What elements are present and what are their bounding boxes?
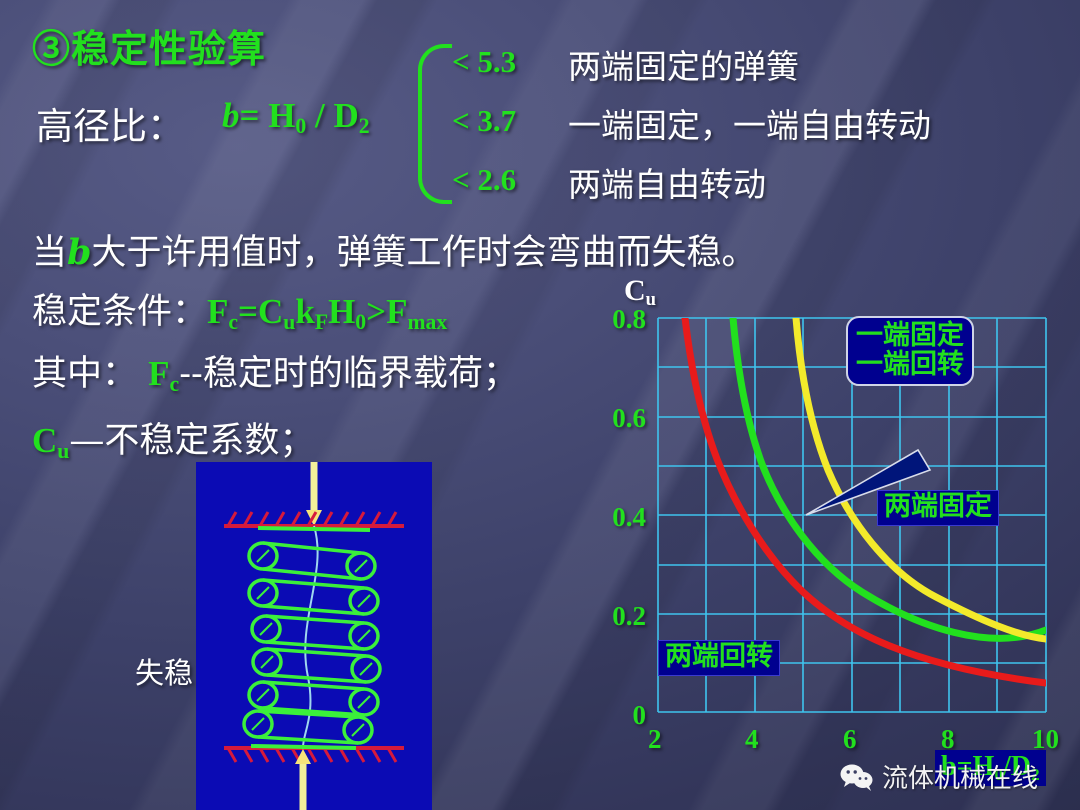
ratio-sub-2: 2 [359, 114, 370, 138]
figure-caption-instability: 失稳 [135, 650, 193, 692]
cu-vs-b-chart: Cu 0.8 0.6 0.4 0.2 0 2 4 6 8 10 [600, 272, 1070, 772]
page-title: ③稳定性验算 [32, 18, 266, 73]
wechat-icon [840, 763, 874, 791]
p4-desc: —不稳定系数； [69, 421, 314, 461]
ratio-slash: / D [306, 96, 359, 135]
paragraph-instability: 当b大于许用值时，弹簧工作时会弯曲而失稳。 [32, 224, 757, 275]
annotation-box-liangduan-huizhuan: 两端回转 [658, 640, 780, 676]
paragraph-cu-definition: Cu—不稳定系数； [32, 412, 314, 464]
p1-lead: 当 [32, 233, 67, 273]
callout-line-2: 一端回转 [856, 350, 964, 379]
chart-plot-svg [600, 272, 1070, 772]
spring-svg [196, 462, 432, 810]
p1-tail: 大于许用值时，弹簧工作时会弯曲而失稳。 [92, 233, 757, 273]
ratio-label: 高径比： [36, 96, 184, 150]
p1-var-b: b [67, 232, 91, 273]
brace-bracket [418, 44, 452, 204]
p2-label: 稳定条件： [32, 292, 207, 332]
threshold-value-3: < 2.6 [452, 162, 516, 198]
paragraph-fc-definition: 其中： Fc--稳定时的临界载荷； [32, 345, 518, 397]
threshold-condition-2: 一端固定，一端自由转动 [568, 99, 931, 147]
bottom-support-hatching [224, 748, 404, 762]
ratio-var-b: b [222, 96, 240, 135]
ratio-eq: = H [240, 96, 296, 135]
ratio-formula: b= H0 / D2 [222, 96, 370, 139]
threshold-value-1: < 5.3 [452, 44, 516, 80]
spring-bottom-plate [251, 746, 356, 748]
symbol-cu: Cu [32, 421, 69, 460]
slide-canvas: ③稳定性验算 高径比： b= H0 / D2 < 5.3 < 3.7 < 2.6… [0, 0, 1080, 810]
buckled-spring-diagram [196, 462, 432, 810]
p3-label: 其中： [32, 354, 137, 394]
annotation-box-liangduan-guding: 两端固定 [877, 490, 999, 526]
annotation-callout-yiduan: 一端固定 一端回转 [846, 316, 974, 386]
watermark-text: 流体机械在线 [882, 758, 1038, 795]
symbol-fc: Fc [148, 354, 179, 393]
watermark: 流体机械在线 [840, 758, 1038, 795]
threshold-condition-1: 两端固定的弹簧 [568, 40, 799, 88]
spring-top-plate [258, 528, 370, 530]
paragraph-stability-condition: 稳定条件：Fc=CukFH0>Fmax [32, 283, 447, 335]
spring-coils [244, 543, 380, 743]
threshold-value-2: < 3.7 [452, 103, 516, 139]
stability-formula: Fc=CukFH0>Fmax [207, 292, 447, 331]
threshold-condition-3: 两端自由转动 [568, 158, 766, 206]
p3-desc: --稳定时的临界载荷； [179, 354, 518, 394]
callout-line-1: 一端固定 [856, 321, 964, 350]
ratio-sub-0: 0 [295, 114, 306, 138]
